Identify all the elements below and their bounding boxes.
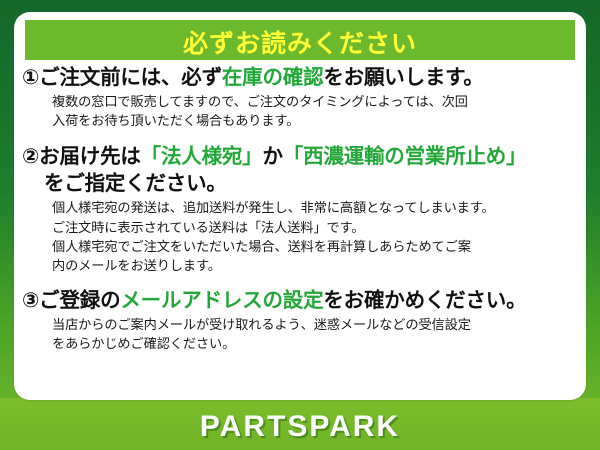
item-1-heading: ①ご注文前には、必ず在庫の確認をお願いします。 <box>22 64 576 91</box>
item-1-heading-part-0: ご注文前には、必ず <box>39 65 222 89</box>
item-1-body-line-1: 入荷をお待ち頂いただく場合もあります。 <box>52 112 576 131</box>
item-2-body-line-0: 個人様宅宛の発送は、追加送料が発生し、非常に高額となってしまいます。 <box>52 199 576 218</box>
notice-item-3: ③ご登録のメールアドレスの設定をお確かめください。 当店からのご案内メールが受け… <box>22 287 576 354</box>
item-3-heading-part-2: をお確かめください。 <box>323 288 526 312</box>
item-2-heading-highlight-2: 「西濃運輸の営業所止め」 <box>283 144 527 168</box>
item-1-heading-highlight: 在庫の確認 <box>222 65 324 89</box>
item-2-heading-part-0: お届け先は <box>39 144 141 168</box>
item-3-heading-part-0: ご登録の <box>39 288 120 312</box>
notice-card-root: PARTSPARK 必ずお読みください ①ご注文前には、必ず在庫の確認をお願いし… <box>0 0 600 450</box>
item-2-body-line-2: 個人様宅宛でご注文をいただいた場合、送料を再計算しあらためてご案 <box>52 238 576 257</box>
item-3-body-line-1: をあらかじめご確認ください。 <box>52 335 576 354</box>
notice-item-2: ②お届け先は「法人様宛」か「西濃運輸の営業所止め」 をご指定ください。 個人様宅… <box>22 143 576 276</box>
item-1-body-line-0: 複数の窓口で販売してますので、ご注文のタイミングによっては、次回 <box>52 93 576 112</box>
item-3-marker: ③ <box>22 288 39 312</box>
item-2-heading-highlight-1: 「法人様宛」 <box>141 144 263 168</box>
notice-body: ①ご注文前には、必ず在庫の確認をお願いします。 複数の窓口で販売してますので、ご… <box>14 64 586 400</box>
brand-logo: PARTSPARK <box>0 410 600 444</box>
item-2-body-line-1: ご注文時に表示されている送料は「法人送料」です。 <box>52 219 576 238</box>
item-3-heading: ③ご登録のメールアドレスの設定をお確かめください。 <box>22 287 576 314</box>
notice-white-card: 必ずお読みください ①ご注文前には、必ず在庫の確認をお願いします。 複数の窓口で… <box>14 12 586 400</box>
item-3-heading-highlight: メールアドレスの設定 <box>120 288 323 312</box>
item-1-marker: ① <box>22 65 39 89</box>
item-2-marker: ② <box>22 144 39 168</box>
notice-item-1: ①ご注文前には、必ず在庫の確認をお願いします。 複数の窓口で販売してますので、ご… <box>22 64 576 131</box>
item-1-body: 複数の窓口で販売してますので、ご注文のタイミングによっては、次回 入荷をお待ち頂… <box>22 91 576 131</box>
item-3-body: 当店からのご案内メールが受け取れるよう、迷惑メールなどの受信設定 をあらかじめご… <box>22 314 576 354</box>
item-1-heading-part-2: をお願いします。 <box>323 65 483 89</box>
item-2-body: 個人様宅宛の発送は、追加送料が発生し、非常に高額となってしまいます。 ご注文時に… <box>22 197 576 276</box>
page-title: 必ずお読みください <box>25 24 575 60</box>
item-3-body-line-0: 当店からのご案内メールが受け取れるよう、迷惑メールなどの受信設定 <box>52 316 576 335</box>
item-2-heading-continuation: をご指定ください。 <box>22 170 576 197</box>
item-2-heading-part-2: か <box>262 144 282 168</box>
title-banner: 必ずお読みください <box>25 20 575 60</box>
item-2-heading: ②お届け先は「法人様宛」か「西濃運輸の営業所止め」 をご指定ください。 <box>22 143 576 197</box>
item-2-body-line-3: 内のメールをお送りします。 <box>52 257 576 276</box>
